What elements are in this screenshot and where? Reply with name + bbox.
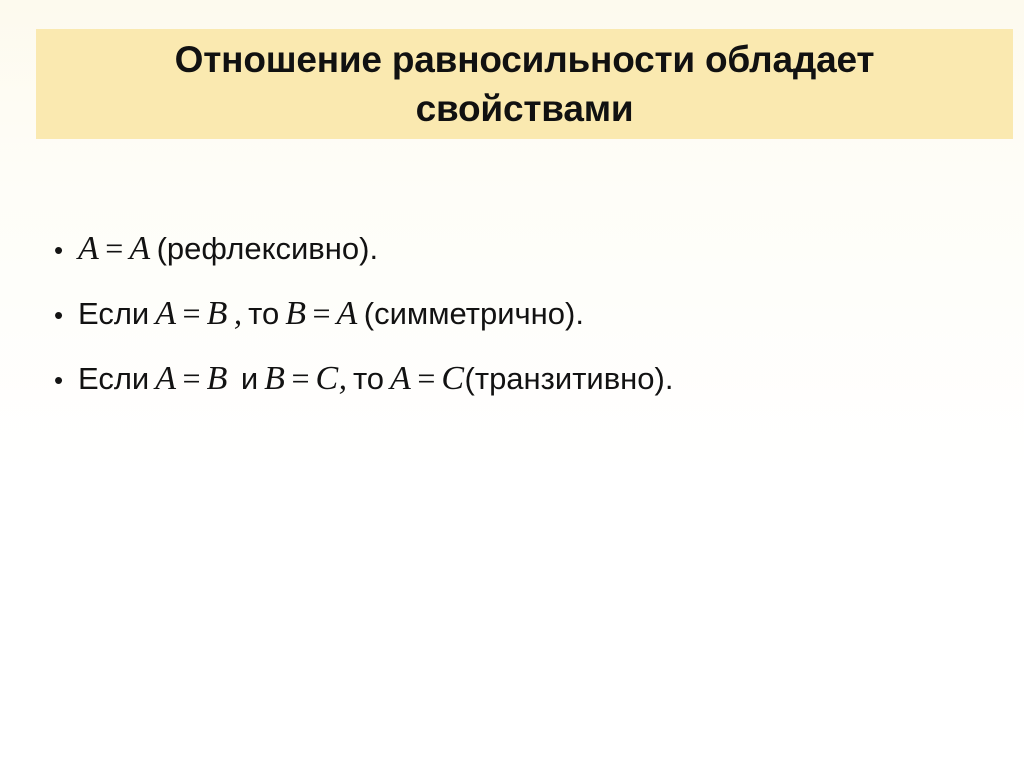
math-variable-a1: A — [78, 230, 99, 267]
math-equals-2: = — [312, 295, 330, 331]
math-comma-1: , — [339, 361, 347, 397]
math-equals-1: = — [183, 295, 201, 331]
list-item-middle-text: то — [353, 361, 384, 396]
page-title-line-2: свойствами — [416, 84, 634, 133]
math-variable-b1: B — [207, 360, 228, 397]
list-item-tail-text: (рефлексивно). — [157, 231, 378, 266]
math-equals-1: = — [105, 230, 123, 266]
list-item-middle-text: то — [248, 296, 279, 331]
math-variable-c2: C — [441, 360, 464, 397]
list-item-conjunction-text: и — [241, 361, 258, 396]
list-item-tail-text: (транзитивно). — [465, 361, 674, 396]
bullet-point-icon: • — [40, 237, 78, 263]
list-item: • ЕслиA=B,тоB=A(симметрично). — [40, 293, 1000, 358]
list-item-lead-text: Если — [78, 296, 149, 331]
math-variable-a1: A — [155, 295, 176, 332]
math-variable-a2: A — [129, 230, 150, 267]
list-item-text: ЕслиA=BиB=C,тоA=C(транзитивно). — [78, 358, 673, 399]
list-item: • A=A(рефлексивно). — [40, 228, 1000, 293]
list-item: • ЕслиA=BиB=C,тоA=C(транзитивно). — [40, 358, 1000, 423]
page-title-line-1: Отношение равносильности обладает — [175, 35, 875, 84]
math-variable-b2: B — [264, 360, 285, 397]
math-equals-1: = — [183, 360, 201, 396]
math-equals-3: = — [417, 360, 435, 396]
bullet-point-icon: • — [40, 367, 78, 393]
slide-canvas: Отношение равносильности обладает свойст… — [0, 0, 1024, 767]
math-variable-b2: B — [285, 295, 306, 332]
math-comma-1: , — [234, 296, 242, 332]
title-banner: Отношение равносильности обладает свойст… — [36, 29, 1013, 139]
math-variable-a1: A — [155, 360, 176, 397]
bullet-point-icon: • — [40, 302, 78, 328]
bullet-list: • A=A(рефлексивно). • ЕслиA=B,тоB=A(симм… — [40, 228, 1000, 423]
list-item-lead-text: Если — [78, 361, 149, 396]
math-equals-2: = — [291, 360, 309, 396]
list-item-text: ЕслиA=B,тоB=A(симметрично). — [78, 293, 584, 334]
list-item-tail-text: (симметрично). — [364, 296, 584, 331]
math-variable-a2: A — [390, 360, 411, 397]
math-variable-c1: C — [316, 360, 339, 397]
list-item-text: A=A(рефлексивно). — [78, 228, 378, 269]
math-variable-a2: A — [337, 295, 358, 332]
math-variable-b1: B — [207, 295, 228, 332]
